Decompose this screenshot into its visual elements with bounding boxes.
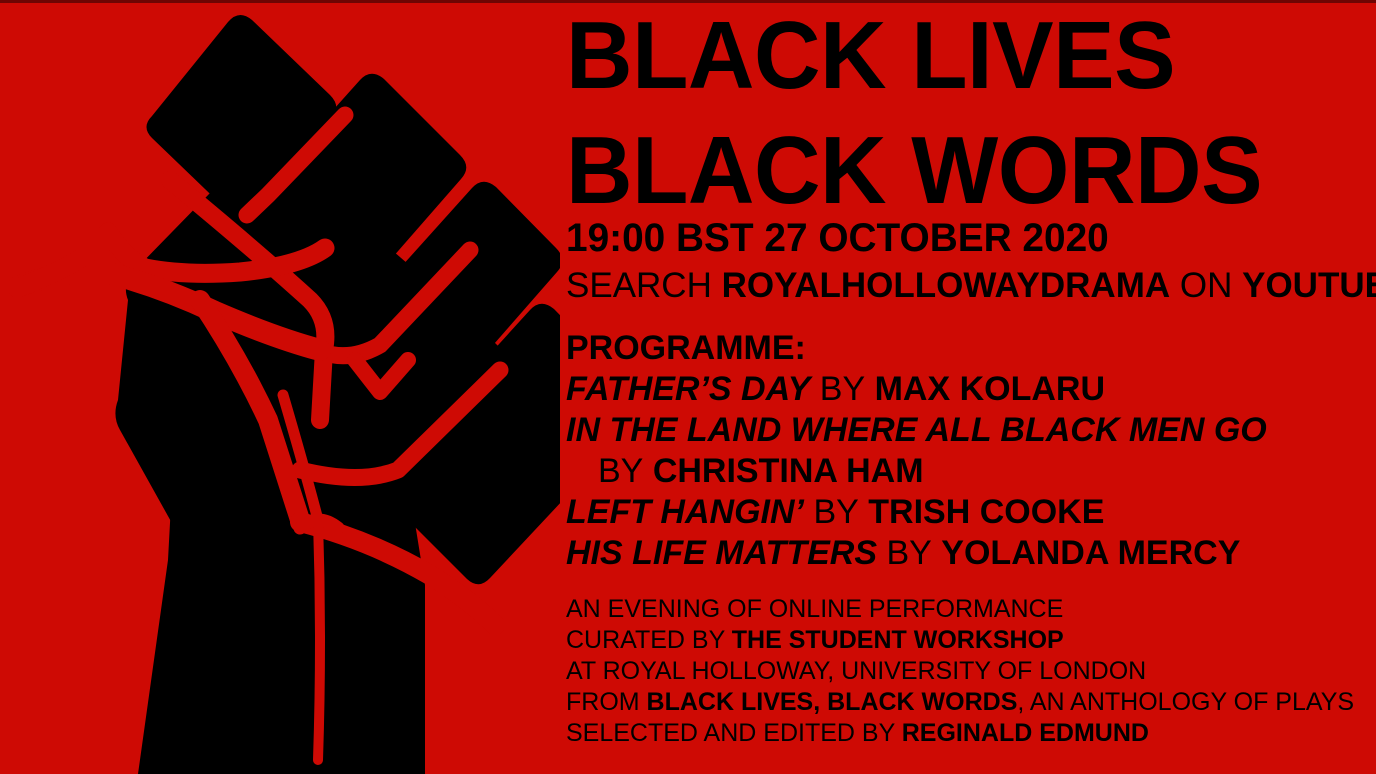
search-connector: ON (1170, 266, 1242, 305)
raised-fist-illustration (0, 0, 560, 774)
programme-heading: PROGRAMME: (566, 328, 1366, 369)
editor-name: REGINALD EDMUND (902, 719, 1149, 747)
spacer (932, 534, 941, 572)
play-author: TRISH COOKE (868, 493, 1104, 531)
by-label: BY (598, 452, 643, 490)
play-title: IN THE LAND WHERE ALL BLACK MEN GO (566, 411, 1267, 449)
search-prefix: SEARCH (566, 266, 722, 305)
programme-item-1: FATHER’S DAY BY MAX KOLARU (566, 369, 1366, 410)
poster-canvas: BLACK LIVES BLACK WORDS 19:00 BST 27 OCT… (0, 0, 1376, 774)
search-platform: YOUTUBE (1242, 266, 1376, 305)
search-channel: ROYALHOLLOWAYDRAMA (722, 266, 1171, 305)
credit-prefix: FROM (566, 688, 647, 716)
credit-line-5: SELECTED AND EDITED BY REGINALD EDMUND (566, 718, 1366, 749)
raised-fist-svg (0, 0, 560, 774)
headline-line-2: BLACK WORDS (566, 123, 1262, 219)
programme-block: PROGRAMME: FATHER’S DAY BY MAX KOLARU IN… (566, 328, 1366, 574)
credit-line-3: AT ROYAL HOLLOWAY, UNIVERSITY OF LONDON (566, 656, 1366, 687)
credit-prefix: SELECTED AND EDITED BY (566, 719, 902, 747)
event-datetime: 19:00 BST 27 OCTOBER 2020 (566, 216, 1109, 260)
forearm-tendon-lower (318, 520, 320, 760)
programme-item-4: HIS LIFE MATTERS BY YOLANDA MERCY (566, 533, 1366, 574)
by-word (810, 370, 819, 408)
curator-name: THE STUDENT WORKSHOP (732, 626, 1064, 654)
top-edge-strip (0, 0, 1376, 3)
programme-item-3: LEFT HANGIN’ BY TRISH COOKE (566, 492, 1366, 533)
by-label: BY (820, 370, 865, 408)
credits-block: AN EVENING OF ONLINE PERFORMANCE CURATED… (566, 594, 1366, 749)
text-column: BLACK LIVES BLACK WORDS 19:00 BST 27 OCT… (566, 0, 1366, 774)
by-label: BY (813, 493, 858, 531)
credit-line-2: CURATED BY THE STUDENT WORKSHOP (566, 625, 1366, 656)
programme-item-2-title: IN THE LAND WHERE ALL BLACK MEN GO (566, 410, 1366, 451)
play-author: MAX KOLARU (875, 370, 1105, 408)
credit-line-4: FROM BLACK LIVES, BLACK WORDS, AN ANTHOL… (566, 687, 1366, 718)
credit-suffix: , AN ANTHOLOGY OF PLAYS (1017, 688, 1354, 716)
spacer (859, 493, 868, 531)
play-author: YOLANDA MERCY (941, 534, 1240, 572)
credit-prefix: CURATED BY (566, 626, 732, 654)
search-instruction: SEARCH ROYALHOLLOWAYDRAMA ON YOUTUBE (566, 266, 1376, 306)
programme-item-2-author: BY CHRISTINA HAM (566, 451, 1366, 492)
credit-line-1: AN EVENING OF ONLINE PERFORMANCE (566, 594, 1366, 625)
headline-line-1: BLACK LIVES (566, 8, 1175, 104)
play-title: LEFT HANGIN’ (566, 493, 804, 531)
play-title: FATHER’S DAY (566, 370, 810, 408)
anthology-title: BLACK LIVES, BLACK WORDS (647, 688, 1018, 716)
spacer (643, 452, 652, 490)
spacer (865, 370, 874, 408)
by-label: BY (886, 534, 931, 572)
play-title: HIS LIFE MATTERS (566, 534, 877, 572)
play-author: CHRISTINA HAM (653, 452, 924, 490)
